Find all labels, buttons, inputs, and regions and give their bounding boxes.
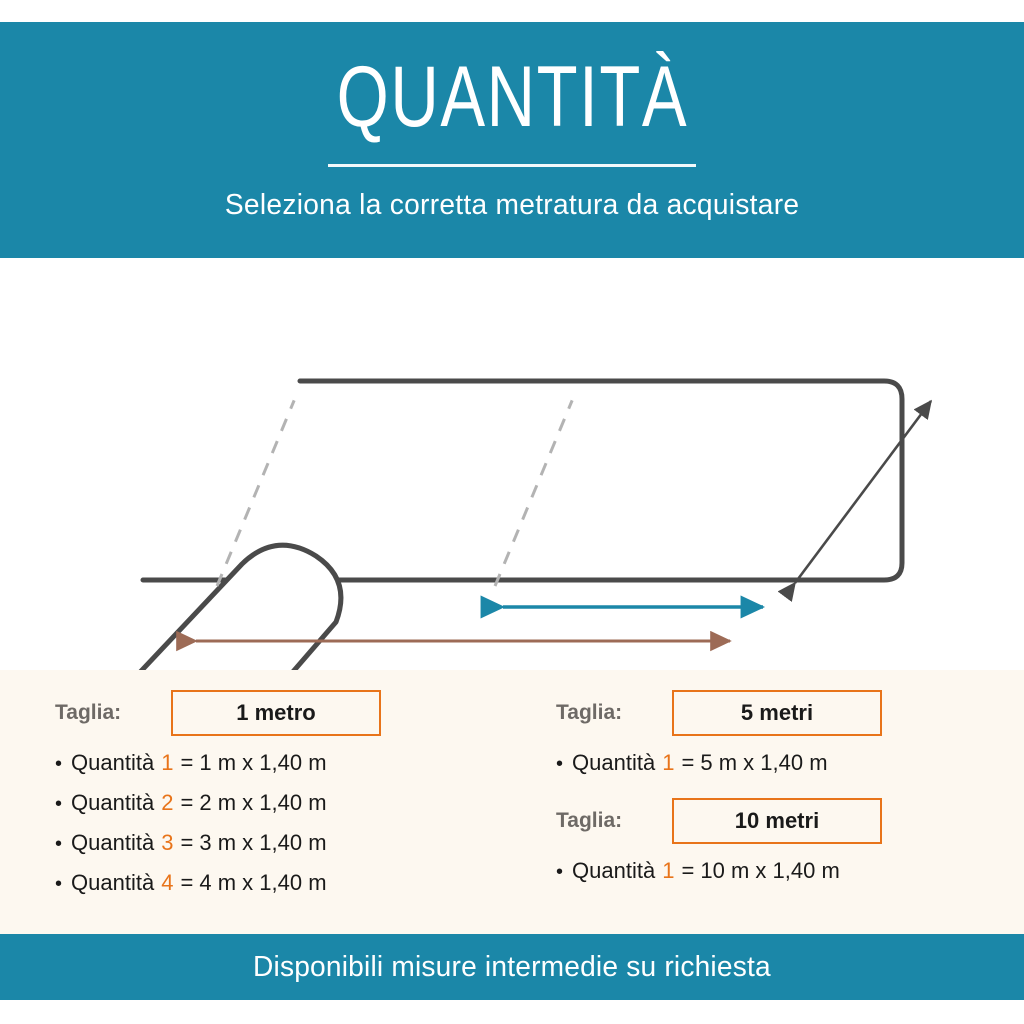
- list-item: • Quantità 3 = 3 m x 1,40 m: [55, 830, 381, 856]
- quantity-suffix: = 4 m x 1,40 m: [180, 870, 326, 896]
- list-item: • Quantità 4 = 4 m x 1,40 m: [55, 870, 381, 896]
- list-item: • Quantità 2 = 2 m x 1,40 m: [55, 790, 381, 816]
- infographic-page: QUANTITÀ Seleziona la corretta metratura…: [0, 0, 1024, 1024]
- bullet-icon: •: [55, 834, 62, 854]
- quantity-prefix: Quantità: [71, 790, 154, 816]
- bullet-icon: •: [55, 794, 62, 814]
- quantity-list: • Quantità 1 = 1 m x 1,40 m • Quantità 2…: [55, 750, 381, 896]
- roll-body: [60, 545, 341, 670]
- quantity-prefix: Quantità: [572, 750, 655, 776]
- taglia-label: Taglia:: [556, 701, 672, 725]
- bullet-icon: •: [556, 862, 563, 882]
- taglia-label: Taglia:: [556, 809, 672, 833]
- quantity-number: 4: [161, 870, 173, 896]
- bullet-icon: •: [556, 754, 563, 774]
- size-block-10-metri: Taglia: 10 metri • Quantità 1 = 10 m x 1…: [556, 798, 882, 884]
- quantity-suffix: = 2 m x 1,40 m: [180, 790, 326, 816]
- quantity-prefix: Quantità: [71, 870, 154, 896]
- sizes-column-right: Taglia: 5 metri • Quantità 1 = 5 m x 1,4…: [556, 670, 882, 884]
- header-subtitle: Seleziona la corretta metratura da acqui…: [225, 189, 799, 222]
- fabric-roll-diagram: 2 Quantità = 2 m x 1,40 m 1 Quantità = 1…: [0, 258, 1024, 670]
- page-title: QUANTITÀ: [336, 54, 688, 140]
- roll-illustration-svg: [0, 258, 1024, 670]
- quantity-list: • Quantità 1 = 10 m x 1,40 m: [556, 858, 882, 884]
- quantity-suffix: = 10 m x 1,40 m: [681, 858, 839, 884]
- quantity-number: 1: [662, 858, 674, 884]
- header-divider: [328, 164, 696, 167]
- quantity-number: 2: [161, 790, 173, 816]
- quantity-suffix: = 3 m x 1,40 m: [180, 830, 326, 856]
- size-value: 1 metro: [236, 700, 315, 726]
- header-banner: QUANTITÀ Seleziona la corretta metratura…: [0, 22, 1024, 258]
- size-selector-10-metri[interactable]: 10 metri: [672, 798, 882, 844]
- taglia-row: Taglia: 10 metri: [556, 798, 882, 844]
- quantity-suffix: = 1 m x 1,40 m: [180, 750, 326, 776]
- taglia-row: Taglia: 1 metro: [55, 690, 381, 736]
- size-selector-5-metri[interactable]: 5 metri: [672, 690, 882, 736]
- quantity-suffix: = 5 m x 1,40 m: [681, 750, 827, 776]
- sizes-column-left: Taglia: 1 metro • Quantità 1 = 1 m x 1,4…: [55, 670, 381, 896]
- size-block-1-metro: Taglia: 1 metro • Quantità 1 = 1 m x 1,4…: [55, 690, 381, 896]
- quantity-list: • Quantità 1 = 5 m x 1,40 m: [556, 750, 882, 776]
- size-value: 10 metri: [735, 808, 819, 834]
- sizes-section: Taglia: 1 metro • Quantità 1 = 1 m x 1,4…: [0, 670, 1024, 934]
- taglia-label: Taglia:: [55, 701, 171, 725]
- list-item: • Quantità 1 = 1 m x 1,40 m: [55, 750, 381, 776]
- quantity-number: 1: [161, 750, 173, 776]
- quantity-prefix: Quantità: [572, 858, 655, 884]
- quantity-number: 1: [662, 750, 674, 776]
- quantity-prefix: Quantità: [71, 830, 154, 856]
- quantity-prefix: Quantità: [71, 750, 154, 776]
- size-value: 5 metri: [741, 700, 813, 726]
- taglia-row: Taglia: 5 metri: [556, 690, 882, 736]
- size-selector-1-metro[interactable]: 1 metro: [171, 690, 381, 736]
- list-item: • Quantità 1 = 5 m x 1,40 m: [556, 750, 882, 776]
- size-block-5-metri: Taglia: 5 metri • Quantità 1 = 5 m x 1,4…: [556, 690, 882, 776]
- bullet-icon: •: [55, 874, 62, 894]
- footer-banner: Disponibili misure intermedie su richies…: [0, 934, 1024, 1000]
- bullet-icon: •: [55, 754, 62, 774]
- quantity-number: 3: [161, 830, 173, 856]
- footer-text: Disponibili misure intermedie su richies…: [253, 951, 771, 984]
- list-item: • Quantità 1 = 10 m x 1,40 m: [556, 858, 882, 884]
